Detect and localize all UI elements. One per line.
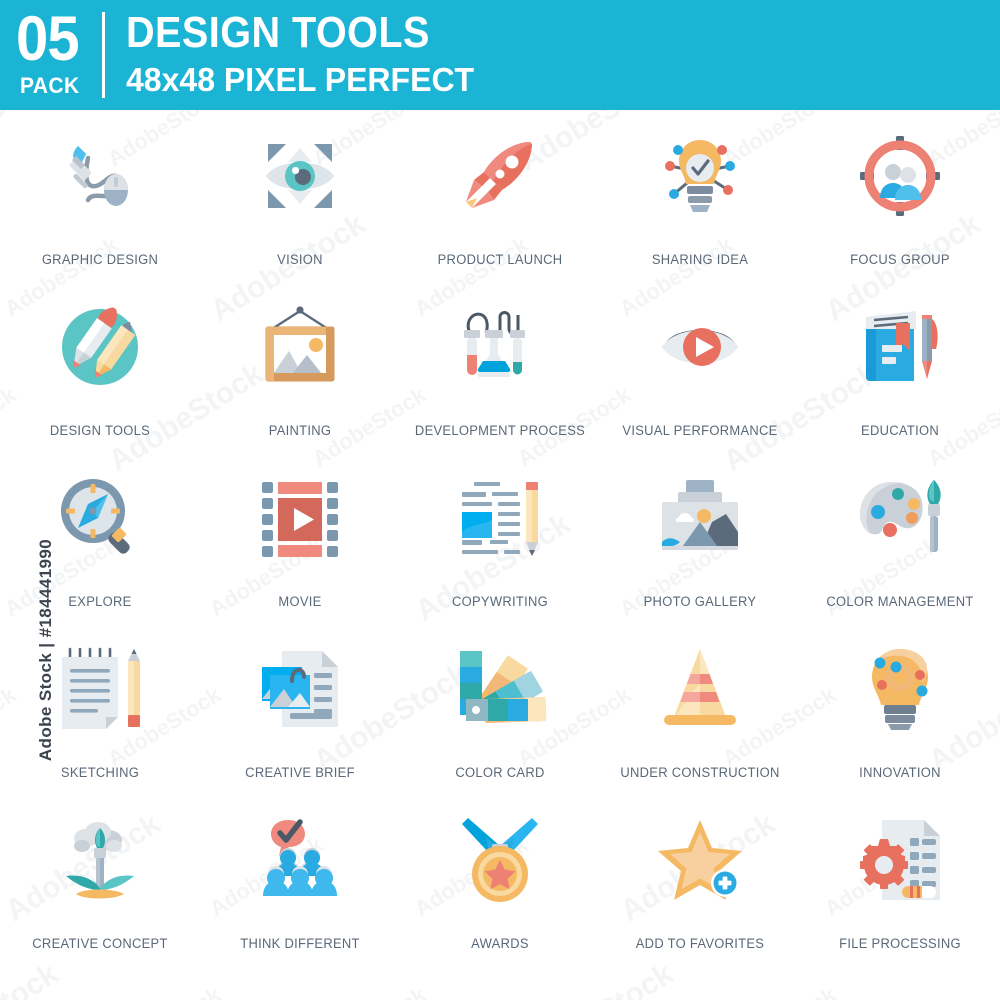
rocket-icon [450, 126, 550, 226]
pack-number: 05 [16, 8, 79, 71]
icon-cell-think-different[interactable]: THINK DIFFERENT [200, 802, 400, 973]
icon-label: ADD TO FAVORITES [604, 936, 796, 951]
icon-label: THINK DIFFERENT [204, 936, 396, 951]
icon-label: PHOTO GALLERY [604, 594, 796, 609]
icon-cell-product-launch[interactable]: PRODUCT LAUNCH [400, 118, 600, 289]
icon-label: UNDER CONSTRUCTION [604, 765, 796, 780]
traffic-cone-icon [650, 639, 750, 739]
icon-cell-creative-concept[interactable]: CREATIVE CONCEPT [0, 802, 200, 973]
sketching-icon [50, 639, 150, 739]
file-processing-icon [850, 810, 950, 910]
think-different-icon [250, 810, 350, 910]
stock-credit: Adobe Stock | #184441990 [36, 500, 56, 800]
icon-cell-sketching[interactable]: SKETCHING [0, 631, 200, 802]
icon-label: CREATIVE CONCEPT [4, 936, 196, 951]
icon-label: COLOR MANAGEMENT [804, 594, 996, 609]
icon-cell-awards[interactable]: AWARDS [400, 802, 600, 973]
icon-pack-page: AdobeStockAdobeStockAdobeStockAdobeStock… [0, 0, 1000, 1000]
icon-cell-color-card[interactable]: COLOR CARD [400, 631, 600, 802]
icon-label: DEVELOPMENT PROCESS [404, 423, 596, 438]
icon-cell-development-process[interactable]: DEVELOPMENT PROCESS [400, 289, 600, 460]
icon-label: EDUCATION [804, 423, 996, 438]
photo-gallery-icon [650, 468, 750, 568]
icon-cell-painting[interactable]: PAINTING [200, 289, 400, 460]
icon-cell-copywriting[interactable]: COPYWRITING [400, 460, 600, 631]
icon-cell-design-tools[interactable]: DESIGN TOOLS [0, 289, 200, 460]
innovation-icon [850, 639, 950, 739]
design-tools-icon [50, 297, 150, 397]
icon-cell-photo-gallery[interactable]: PHOTO GALLERY [600, 460, 800, 631]
focus-group-icon [850, 126, 950, 226]
icon-label: COLOR CARD [404, 765, 596, 780]
painting-icon [250, 297, 350, 397]
copywriting-icon [450, 468, 550, 568]
icon-cell-education[interactable]: EDUCATION [800, 289, 1000, 460]
color-card-icon [450, 639, 550, 739]
icon-cell-explore[interactable]: EXPLORE [0, 460, 200, 631]
icon-label: MOVIE [204, 594, 396, 609]
add-to-favorites-icon [650, 810, 750, 910]
graphic-design-icon [50, 126, 150, 226]
icon-cell-creative-brief[interactable]: CREATIVE BRIEF [200, 631, 400, 802]
icon-cell-sharing-idea[interactable]: SHARING IDEA [600, 118, 800, 289]
color-management-icon [850, 468, 950, 568]
pack-header: 05 PACK DESIGN TOOLS 48x48 PIXEL PERFECT [0, 0, 1000, 110]
visual-performance-icon [650, 297, 750, 397]
icon-label: FILE PROCESSING [804, 936, 996, 951]
icon-cell-file-processing[interactable]: FILE PROCESSING [800, 802, 1000, 973]
development-process-icon [450, 297, 550, 397]
icon-label: FOCUS GROUP [804, 252, 996, 267]
icon-cell-add-to-favorites[interactable]: ADD TO FAVORITES [600, 802, 800, 973]
icon-cell-visual-performance[interactable]: VISUAL PERFORMANCE [600, 289, 800, 460]
icon-label: GRAPHIC DESIGN [4, 252, 196, 267]
vision-icon [250, 126, 350, 226]
awards-medal-icon [450, 810, 550, 910]
icon-label: SHARING IDEA [604, 252, 796, 267]
icon-label: PAINTING [204, 423, 396, 438]
header-divider [102, 12, 105, 98]
icon-label: EXPLORE [4, 594, 196, 609]
creative-concept-icon [50, 810, 150, 910]
icon-cell-graphic-design[interactable]: GRAPHIC DESIGN [0, 118, 200, 289]
icon-label: INNOVATION [804, 765, 996, 780]
icon-cell-vision[interactable]: VISION [200, 118, 400, 289]
icon-cell-color-management[interactable]: COLOR MANAGEMENT [800, 460, 1000, 631]
movie-icon [250, 468, 350, 568]
icon-label: VISION [204, 252, 396, 267]
icon-grid: GRAPHIC DESIGN VISION [0, 118, 1000, 998]
page-subtitle: 48x48 PIXEL PERFECT [126, 62, 474, 98]
creative-brief-icon [250, 639, 350, 739]
page-title: DESIGN TOOLS [126, 10, 430, 56]
icon-label: AWARDS [404, 936, 596, 951]
icon-label: COPYWRITING [404, 594, 596, 609]
icon-label: SKETCHING [4, 765, 196, 780]
explore-icon [50, 468, 150, 568]
icon-label: DESIGN TOOLS [4, 423, 196, 438]
icon-cell-movie[interactable]: MOVIE [200, 460, 400, 631]
education-icon [850, 297, 950, 397]
icon-cell-under-construction[interactable]: UNDER CONSTRUCTION [600, 631, 800, 802]
icon-label: VISUAL PERFORMANCE [604, 423, 796, 438]
sharing-idea-icon [650, 126, 750, 226]
pack-word: PACK [20, 75, 80, 97]
icon-cell-focus-group[interactable]: FOCUS GROUP [800, 118, 1000, 289]
icon-cell-innovation[interactable]: INNOVATION [800, 631, 1000, 802]
icon-label: PRODUCT LAUNCH [404, 252, 596, 267]
icon-label: CREATIVE BRIEF [204, 765, 396, 780]
